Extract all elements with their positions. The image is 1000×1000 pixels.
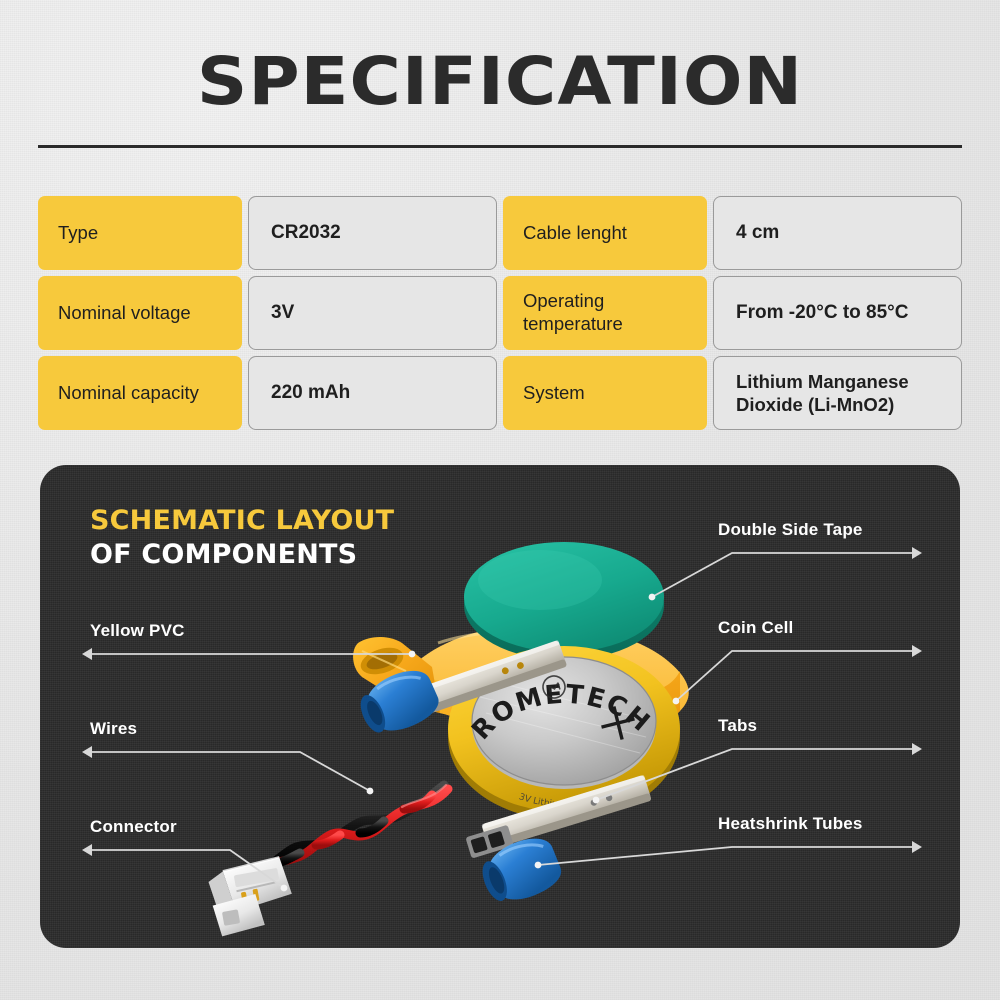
callout-line-heatshrink-tubes [538,847,912,865]
callout-line-coin-cell [676,651,912,701]
schematic-heading-line2: OF COMPONENTS [90,541,394,570]
callout-label-coin-cell: Coin Cell [718,618,793,638]
schematic-heading: SCHEMATIC LAYOUT OF COMPONENTS [90,507,394,569]
spec-value-cable-length: 4 cm [713,196,962,270]
callout-label-connector: Connector [90,817,177,837]
callout-line-tabs [596,749,912,800]
specification-table: Type CR2032 Cable lenght 4 cm Nominal vo… [38,196,962,430]
callout-label-double-side-tape: Double Side Tape [718,520,863,540]
callout-label-wires: Wires [90,719,137,739]
callout-line-wires [92,752,370,791]
spec-label-operating-temperature: Operating temperature [503,276,707,350]
schematic-panel: SCHEMATIC LAYOUT OF COMPONENTS [40,465,960,948]
callout-arrowheads [82,547,922,856]
page-root: SPECIFICATION Type CR2032 Cable lenght 4… [0,0,1000,1000]
callout-line-connector [92,850,284,888]
spec-label-nominal-voltage: Nominal voltage [38,276,242,350]
callout-line-double-side-tape [652,553,912,597]
callout-label-yellow-pvc: Yellow PVC [90,621,185,641]
page-title: SPECIFICATION [0,49,1000,115]
spec-value-nominal-voltage: 3V [248,276,497,350]
spec-label-nominal-capacity: Nominal capacity [38,356,242,430]
callout-label-heatshrink-tubes: Heatshrink Tubes [718,814,863,834]
spec-label-cable-length: Cable lenght [503,196,707,270]
callout-dots [281,594,680,892]
title-divider [38,145,962,148]
spec-value-type: CR2032 [248,196,497,270]
spec-label-system: System [503,356,707,430]
spec-label-type: Type [38,196,242,270]
spec-value-nominal-capacity: 220 mAh [248,356,497,430]
callout-label-tabs: Tabs [718,716,757,736]
schematic-heading-line1: SCHEMATIC LAYOUT [90,507,394,536]
spec-value-system: Lithium Manganese Dioxide (Li-MnO2) [713,356,962,430]
spec-value-operating-temperature: From -20°C to 85°C [713,276,962,350]
